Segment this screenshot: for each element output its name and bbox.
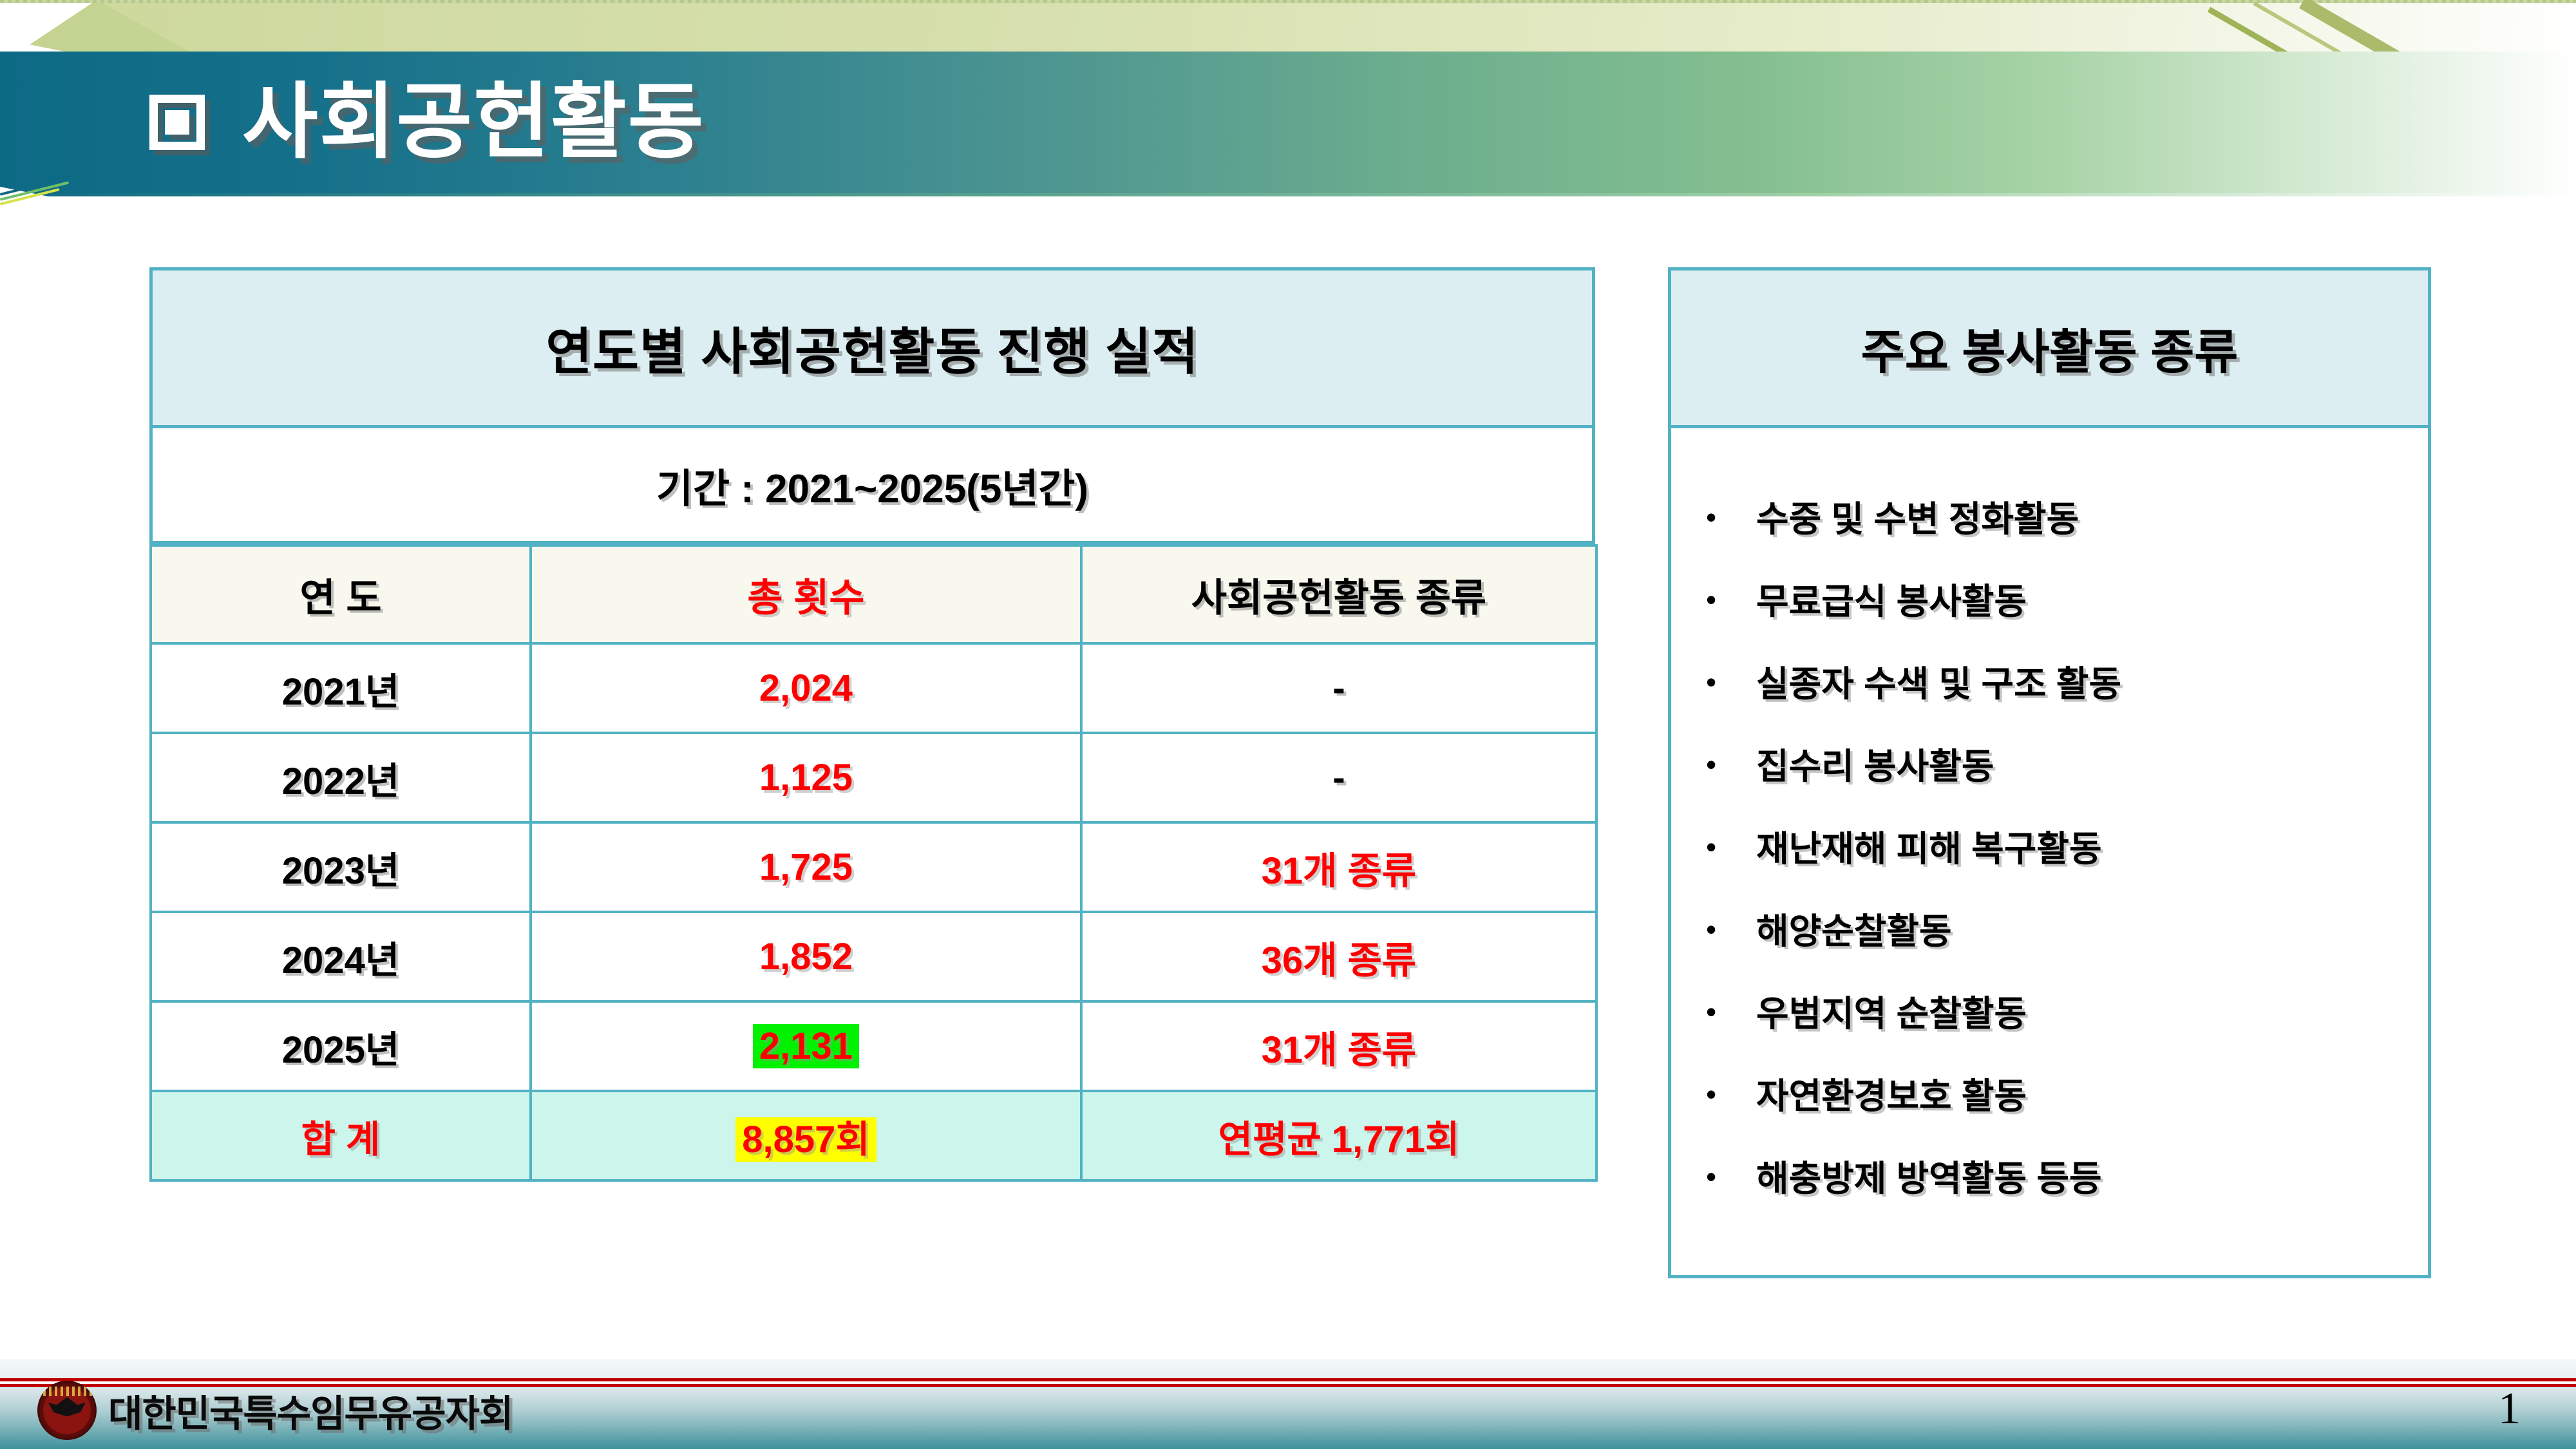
bullet-dot-icon: •: [1706, 914, 1720, 944]
bullet-dot-icon: •: [1706, 997, 1720, 1027]
list-item: • 자연환경보호 활동: [1671, 1067, 2428, 1150]
performance-table: 연 도 총 횟수 사회공헌활동 종류 2021년 2,024 - 2022년 1…: [149, 544, 1598, 1182]
bullet-dot-icon: •: [1706, 1079, 1720, 1109]
performance-table-card: 연도별 사회공헌활동 진행 실적 기간 : 2021~2025(5년간) 연 도…: [149, 267, 1595, 1182]
column-header-activity-kinds: 사회공헌활동 종류: [1081, 545, 1596, 643]
list-item: • 해충방제 방역활동 등등: [1671, 1150, 2428, 1232]
list-item-label: 무료급식 봉사활동: [1756, 573, 2027, 624]
organization-emblem-icon: [37, 1381, 97, 1440]
bullet-dot-icon: •: [1706, 832, 1720, 862]
cell-count: 1,852: [531, 912, 1081, 1001]
bullet-dot-icon: •: [1706, 585, 1720, 614]
list-item: • 해양순찰활동: [1671, 902, 2428, 985]
service-types-list: • 수중 및 수변 정화활동 • 무료급식 봉사활동 • 실종자 수색 및 구조…: [1671, 490, 2428, 1232]
bullet-dot-icon: •: [1706, 750, 1720, 779]
cell-total-count-highlighted: 8,857회: [531, 1091, 1081, 1180]
service-types-body: • 수중 및 수변 정화활동 • 무료급식 봉사활동 • 실종자 수색 및 구조…: [1668, 428, 2431, 1278]
cell-kinds: -: [1081, 733, 1596, 822]
list-item-label: 집수리 봉사활동: [1756, 737, 1994, 789]
bullet-dot-icon: •: [1706, 1162, 1720, 1191]
table-header-row: 연 도 총 횟수 사회공헌활동 종류: [151, 545, 1596, 643]
banner-accent-stripes: [0, 191, 167, 216]
list-item: • 무료급식 봉사활동: [1671, 573, 2428, 655]
list-item-label: 자연환경보호 활동: [1756, 1067, 2027, 1119]
content-area: 연도별 사회공헌활동 진행 실적 기간 : 2021~2025(5년간) 연 도…: [0, 267, 2576, 1330]
performance-period-label: 기간 : 2021~2025(5년간): [656, 456, 1088, 514]
list-item-label: 우범지역 순찰활동: [1756, 985, 2027, 1036]
list-item: • 수중 및 수변 정화활동: [1671, 490, 2428, 573]
cell-count: 1,125: [531, 733, 1081, 822]
service-types-header: 주요 봉사활동 종류: [1668, 267, 2431, 428]
table-row: 2022년 1,125 -: [151, 733, 1596, 822]
square-fill: [165, 110, 189, 135]
cell-kinds: -: [1081, 643, 1596, 733]
table-row: 2024년 1,852 36개 종류: [151, 912, 1596, 1001]
highlighted-total-value: 8,857회: [735, 1117, 876, 1162]
top-dashed-rule: [0, 0, 2576, 3]
cell-year: 2021년: [151, 643, 531, 733]
cell-count: 1,725: [531, 822, 1081, 912]
bullet-dot-icon: •: [1706, 502, 1720, 532]
table-total-row: 합 계 8,857회 연평균 1,771회: [151, 1091, 1596, 1180]
table-row: 2023년 1,725 31개 종류: [151, 822, 1596, 912]
performance-table-title: 연도별 사회공헌활동 진행 실적: [546, 312, 1199, 384]
list-item: • 재난재해 피해 복구활동: [1671, 820, 2428, 902]
cell-count-highlighted: 2,131: [531, 1001, 1081, 1091]
cell-year: 2023년: [151, 822, 531, 912]
column-header-total-count: 총 횟수: [531, 545, 1081, 643]
table-row: 2021년 2,024 -: [151, 643, 1596, 733]
header-banner-underline: [0, 193, 2576, 196]
cell-year: 2022년: [151, 733, 531, 822]
performance-period-row: 기간 : 2021~2025(5년간): [149, 428, 1595, 544]
cell-kinds: 31개 종류: [1081, 1001, 1596, 1091]
slide-root: 사회공헌활동 연도별 사회공헌활동 진행 실적 기간 : 2021~2025(5…: [0, 0, 2576, 1449]
cell-total-kinds: 연평균 1,771회: [1081, 1091, 1596, 1180]
list-item-label: 재난재해 피해 복구활동: [1756, 820, 2102, 871]
organization-name: 대한민국특수임무유공자회: [108, 1383, 513, 1437]
header-title-group: 사회공헌활동: [0, 52, 2576, 193]
list-item-label: 수중 및 수변 정화활동: [1756, 490, 2079, 542]
cell-year: 2025년: [151, 1001, 531, 1091]
page-title: 사회공헌활동: [242, 81, 705, 164]
list-item: • 실종자 수색 및 구조 활동: [1671, 655, 2428, 737]
cell-kinds: 36개 종류: [1081, 912, 1596, 1001]
cell-count: 2,024: [531, 643, 1081, 733]
filled-square-bullet-icon: [149, 95, 205, 150]
footer-brand-group: 대한민국특수임무유공자회: [37, 1381, 513, 1440]
service-types-card: 주요 봉사활동 종류 • 수중 및 수변 정화활동 • 무료급식 봉사활동 • …: [1668, 267, 2431, 1278]
list-item: • 집수리 봉사활동: [1671, 737, 2428, 820]
list-item-label: 실종자 수색 및 구조 활동: [1756, 655, 2121, 706]
list-item: • 우범지역 순찰활동: [1671, 985, 2428, 1067]
performance-table-header: 연도별 사회공헌활동 진행 실적: [149, 267, 1595, 428]
service-types-title: 주요 봉사활동 종류: [1861, 314, 2239, 383]
list-item-label: 해충방제 방역활동 등등: [1756, 1150, 2102, 1201]
column-header-year: 연 도: [151, 545, 531, 643]
highlighted-count-value: 2,131: [753, 1024, 859, 1068]
cell-kinds: 31개 종류: [1081, 822, 1596, 912]
cell-total-label: 합 계: [151, 1091, 531, 1180]
slide-footer: 대한민국특수임무유공자회 1: [0, 1359, 2576, 1449]
page-number: 1: [2498, 1383, 2521, 1435]
bullet-dot-icon: •: [1706, 667, 1720, 697]
cell-year: 2024년: [151, 912, 531, 1001]
table-row: 2025년 2,131 31개 종류: [151, 1001, 1596, 1091]
list-item-label: 해양순찰활동: [1756, 902, 1952, 954]
